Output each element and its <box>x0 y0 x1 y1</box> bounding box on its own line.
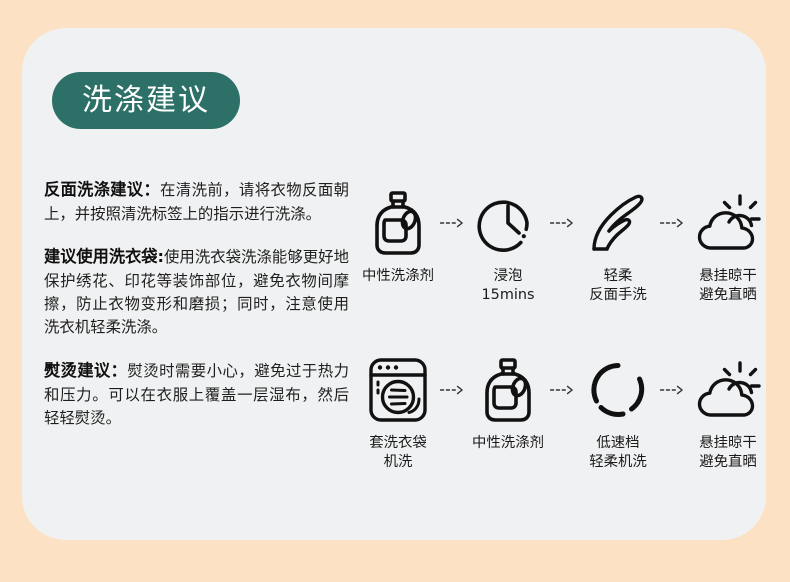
dashed-arrow-icon <box>660 188 686 258</box>
dashed-arrow-icon <box>440 188 466 258</box>
advice-label: 熨烫建议： <box>44 361 127 380</box>
flow-step: 套洗衣袋 机洗 <box>356 355 440 472</box>
advice-label: 建议使用洗衣袋: <box>44 247 164 266</box>
machine-wash-flow: 套洗衣袋 机洗 中性洗涤剂 <box>356 355 758 472</box>
flow-step-label: 低速档 轻柔机洗 <box>589 434 647 472</box>
dashed-arrow-icon <box>440 355 466 425</box>
flow-step: 中性洗涤剂 <box>466 355 550 453</box>
flow-step: 低速档 轻柔机洗 <box>576 355 660 472</box>
advice-label: 反面洗涤建议： <box>44 180 160 199</box>
hand-icon <box>589 188 647 258</box>
clock-icon <box>477 188 539 258</box>
advice-block-laundry-bag: 建议使用洗衣袋:使用洗衣袋洗涤能够更好地保护绣花、印花等装饰部位，避免衣物间摩擦… <box>44 245 349 340</box>
advice-block-ironing: 熨烫建议：熨烫时需要小心，避免过于热力和压力。可以在衣服上覆盖一层湿布，然后轻轻… <box>44 359 349 430</box>
advice-paragraph: 建议使用洗衣袋:使用洗衣袋洗涤能够更好地保护绣花、印花等装饰部位，避免衣物间摩擦… <box>44 245 349 340</box>
dashed-arrow-icon <box>550 188 576 258</box>
poster-root: 洗涤建议 反面洗涤建议：在清洗前，请将衣物反面朝上，并按照清洗标签上的指示进行洗… <box>0 0 790 582</box>
flow-step: 悬挂晾干 避免直晒 <box>686 188 770 305</box>
flow-step-label: 中性洗涤剂 <box>472 434 544 453</box>
spin-cycle-icon <box>587 355 649 425</box>
flow-step-label: 中性洗涤剂 <box>362 267 434 286</box>
dashed-arrow-icon <box>660 355 686 425</box>
advice-text-column: 反面洗涤建议：在清洗前，请将衣物反面朝上，并按照清洗标签上的指示进行洗涤。 建议… <box>44 178 349 449</box>
sun-cloud-icon <box>693 188 763 258</box>
flow-step: 中性洗涤剂 <box>356 188 440 286</box>
flow-step-label: 浸泡 15mins <box>482 267 535 305</box>
detergent-bottle-icon <box>371 188 425 258</box>
sun-cloud-icon <box>693 355 763 425</box>
page-title-badge: 洗涤建议 <box>52 72 240 129</box>
flow-step-label: 悬挂晾干 避免直晒 <box>699 434 757 472</box>
advice-paragraph: 反面洗涤建议：在清洗前，请将衣物反面朝上，并按照清洗标签上的指示进行洗涤。 <box>44 178 349 226</box>
flow-step-label: 轻柔 反面手洗 <box>589 267 647 305</box>
advice-block-reverse-wash: 反面洗涤建议：在清洗前，请将衣物反面朝上，并按照清洗标签上的指示进行洗涤。 <box>44 178 349 226</box>
flow-step-label: 悬挂晾干 避免直晒 <box>699 267 757 305</box>
page-title: 洗涤建议 <box>82 86 210 116</box>
washing-machine-icon <box>367 355 429 425</box>
flow-step: 轻柔 反面手洗 <box>576 188 660 305</box>
flow-step: 浸泡 15mins <box>466 188 550 305</box>
dashed-arrow-icon <box>550 355 576 425</box>
flow-step: 悬挂晾干 避免直晒 <box>686 355 770 472</box>
flow-step-label: 套洗衣袋 机洗 <box>369 434 427 472</box>
hand-wash-flow: 中性洗涤剂 浸泡 15mins <box>356 188 758 305</box>
detergent-bottle-icon <box>481 355 535 425</box>
advice-paragraph: 熨烫建议：熨烫时需要小心，避免过于热力和压力。可以在衣服上覆盖一层湿布，然后轻轻… <box>44 359 349 430</box>
